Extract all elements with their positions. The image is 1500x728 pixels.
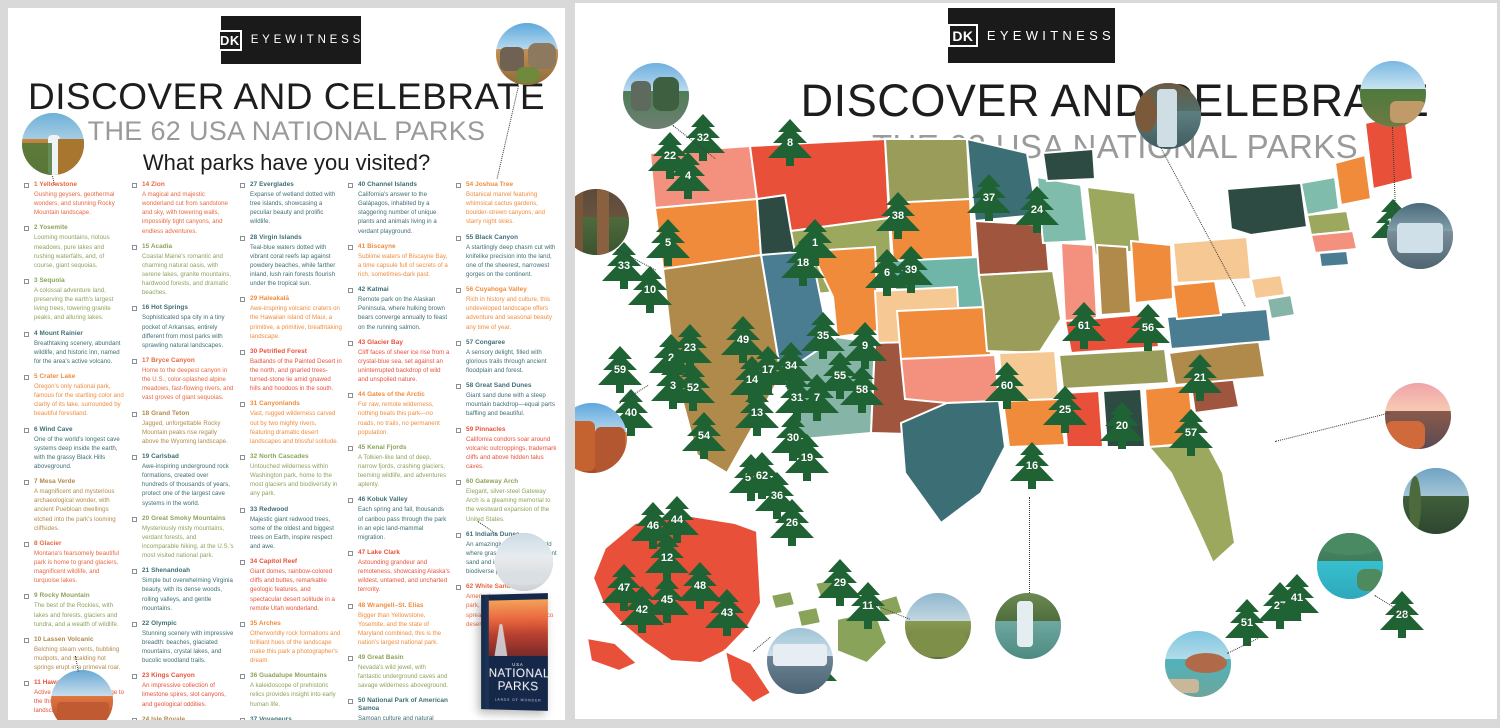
park-name: 45 Kenai Fjords (358, 444, 450, 452)
park-name: 43 Glacier Bay (358, 339, 450, 347)
park-description: Each spring and fall, thousands of carib… (358, 505, 450, 542)
park-name: 30 Petrified Forest (250, 348, 342, 356)
park-marker-tree-52[interactable]: 52 (671, 363, 715, 411)
park-description: Badlands of the Painted Desert in the no… (250, 357, 342, 394)
tree-icon (628, 265, 672, 313)
park-marker-tree-21[interactable]: 21 (1178, 353, 1222, 401)
park-checkbox[interactable] (240, 674, 245, 679)
park-name: 8 Glacier (34, 540, 126, 548)
park-list-item[interactable]: 32 North CascadesUntouched wilderness wi… (240, 453, 342, 499)
left-poster-title: DISCOVER AND CELEBRATE (8, 76, 565, 118)
park-name: 48 Wrangell–St. Elias (358, 602, 450, 610)
park-list-column-1: 1 YellowstoneGushing geysers, geothermal… (24, 181, 132, 711)
park-list-item[interactable]: 8 GlacierMontana's fearsomely beautiful … (24, 540, 126, 586)
acadia-photo (1360, 61, 1426, 127)
park-checkbox[interactable] (24, 375, 29, 380)
tree-icon (646, 218, 690, 266)
tree-icon (770, 498, 814, 546)
park-name: 31 Canyonlands (250, 400, 342, 408)
zion-photo (575, 403, 627, 473)
left-poster-subtitle: THE 62 USA NATIONAL PARKS (8, 116, 565, 147)
park-name: 57 Congaree (466, 339, 558, 347)
park-description: California condors soar around volcanic … (466, 435, 558, 472)
park-checkbox[interactable] (348, 393, 353, 398)
park-description: Sophisticated spa city in a tiny pocket … (142, 313, 234, 350)
park-checkbox[interactable] (456, 384, 461, 389)
park-marker-tree-11[interactable]: 11 (846, 581, 890, 629)
park-name: 10 Lassen Volcanic (34, 636, 126, 644)
park-list-item[interactable]: 40 Channel IslandsCalifornia's answer to… (348, 181, 450, 236)
park-name: 42 Katmai (358, 286, 450, 294)
book-cover-photo (489, 599, 548, 656)
park-checkbox[interactable] (24, 480, 29, 485)
tree-icon (1062, 301, 1106, 349)
tree-icon (876, 191, 920, 239)
park-name: 59 Pinnacles (466, 426, 558, 434)
park-name: 29 Haleakalā (250, 295, 342, 303)
park-list-item[interactable]: 50 National Park of American SamoaSamoan… (348, 697, 450, 720)
park-description: Belching steam vents, bubbling mudpots, … (34, 645, 126, 672)
park-marker-tree-26[interactable]: 26 (770, 498, 814, 546)
park-marker-tree-16[interactable]: 16 (1010, 441, 1054, 489)
park-description: Giant domes, rainbow-colored cliffs and … (250, 567, 342, 613)
park-marker-tree-18[interactable]: 18 (781, 238, 825, 286)
park-list-item[interactable]: 47 Lake ClarkAstounding grandeur and rem… (348, 549, 450, 595)
park-name: 56 Cuyahoga Valley (466, 286, 558, 294)
park-name: 28 Virgin Islands (250, 234, 342, 242)
left-poster-panel: DK EYEWITNESS DISCOVER AND CELEBRATE THE… (8, 8, 565, 720)
park-checkbox[interactable] (132, 183, 137, 188)
park-marker-tree-24[interactable]: 24 (1015, 185, 1059, 233)
park-list-item[interactable]: 46 Kobuk ValleyEach spring and fall, tho… (348, 496, 450, 542)
park-description: Expanse of wetland dotted with tree isla… (250, 190, 342, 227)
park-checkbox[interactable] (456, 428, 461, 433)
park-checkbox[interactable] (348, 604, 353, 609)
park-name: 36 Guadalupe Mountains (250, 672, 342, 680)
park-checkbox[interactable] (456, 480, 461, 485)
tree-icon (846, 581, 890, 629)
left-poster-question: What parks have you visited? (8, 150, 565, 176)
park-list-item[interactable]: 10 Lassen VolcanicBelching steam vents, … (24, 636, 126, 672)
park-list-item[interactable]: 27 EvergladesExpanse of wetland dotted w… (240, 181, 342, 227)
dk-eyewitness-logo-left: DK EYEWITNESS (221, 16, 361, 64)
park-list-column-2: 14 ZionA magical and majestic wonderland… (132, 181, 240, 711)
park-list-item[interactable]: 45 Kenai FjordsA Tolkien-like land of de… (348, 444, 450, 490)
park-description: A Tolkien-like land of deep, narrow fjor… (358, 453, 450, 490)
park-description: Gushing geysers, geothermal wonders, and… (34, 190, 126, 217)
park-description: Bigger than Yellowstone, Yosemite, and t… (358, 611, 450, 648)
park-list-column-3: 27 EvergladesExpanse of wetland dotted w… (240, 181, 348, 711)
park-list-item[interactable]: 16 Hot SpringsSophisticated spa city in … (132, 304, 234, 350)
park-checkbox[interactable] (348, 551, 353, 556)
park-list-item[interactable]: 31 CanyonlandsVast, rugged wilderness ca… (240, 400, 342, 446)
park-checkbox[interactable] (24, 279, 29, 284)
tree-icon (1100, 401, 1144, 449)
park-marker-tree-61[interactable]: 61 (1062, 301, 1106, 349)
park-name: 9 Rocky Mountain (34, 592, 126, 600)
park-list-item[interactable]: 6 Wind CaveOne of the world's longest ca… (24, 426, 126, 472)
park-description: Coastal Maine's romantic and charming na… (142, 252, 234, 298)
park-checkbox[interactable] (456, 341, 461, 346)
park-checkbox[interactable] (240, 297, 245, 302)
park-name: 50 National Park of American Samoa (358, 697, 450, 713)
park-description: Home to the deepest canyon in the U.S., … (142, 366, 234, 403)
park-name: 46 Kobuk Valley (358, 496, 450, 504)
tree-icon (967, 173, 1011, 221)
park-name: 47 Lake Clark (358, 549, 450, 557)
park-name: 23 Kings Canyon (142, 672, 234, 680)
park-checkbox[interactable] (348, 498, 353, 503)
park-checkbox[interactable] (132, 245, 137, 250)
park-checkbox[interactable] (348, 245, 353, 250)
park-name: 6 Wind Cave (34, 426, 126, 434)
park-checkbox[interactable] (132, 718, 137, 720)
park-description: Sublime waters of Biscayne Bay, a time c… (358, 252, 450, 279)
tree-icon (1126, 303, 1170, 351)
park-description: Elegant, silver-steel Gateway Arch is a … (466, 487, 558, 524)
park-marker-tree-28[interactable]: 28 (1380, 590, 1424, 638)
hot-springs-photo (995, 593, 1061, 659)
dry-tortugas-photo (1165, 631, 1231, 697)
park-description: Giant sand dune with a steep mountain ba… (466, 391, 558, 418)
park-description: For raw, remote wilderness, nothing beat… (358, 400, 450, 437)
tree-icon (985, 361, 1029, 409)
park-description: A kaleidoscope of prehistoric relics pro… (250, 681, 342, 708)
park-list-item[interactable]: 42 KatmaiRemote park on the Alaskan Peni… (348, 286, 450, 332)
park-name: 22 Olympic (142, 620, 234, 628)
park-list-item[interactable]: 19 CarlsbadAwe-inspiring underground roc… (132, 453, 234, 508)
book-tagline: LANDS OF WONDER (489, 698, 548, 703)
park-name: 49 Great Basin (358, 654, 450, 662)
park-marker-tree-4[interactable]: 4 (666, 151, 710, 199)
park-list-item[interactable]: 22 OlympicStunning scenery with impressi… (132, 620, 234, 666)
park-name: 60 Gateway Arch (466, 478, 558, 486)
park-list-item[interactable]: 17 Bryce CanyonHome to the deepest canyo… (132, 357, 234, 403)
park-name: 17 Bryce Canyon (142, 357, 234, 365)
park-name: 1 Yellowstone (34, 181, 126, 189)
park-marker-tree-41[interactable]: 41 (1275, 573, 1319, 621)
park-description: Samoan culture and natural treasures con… (358, 714, 450, 720)
park-checkbox[interactable] (24, 183, 29, 188)
park-checkbox[interactable] (132, 569, 137, 574)
tree-icon (598, 345, 642, 393)
park-checkbox[interactable] (24, 428, 29, 433)
usa-national-parks-book-cover: DK EYEWITNESS USA NATIONAL PARKS LANDS O… (481, 593, 548, 711)
park-description: Looming mountains, riotous meadows, pure… (34, 233, 126, 270)
park-name: 55 Black Canyon (466, 234, 558, 242)
park-list-item[interactable]: 44 Gates of the ArcticFor raw, remote wi… (348, 391, 450, 437)
park-checkbox[interactable] (24, 542, 29, 547)
park-list-column-4: 40 Channel IslandsCalifornia's answer to… (348, 181, 456, 711)
park-list-item[interactable]: 56 Cuyahoga ValleyRich in history and cu… (456, 286, 558, 332)
usa-map: 2232485331038118639372422349359593521734… (575, 3, 1497, 719)
park-description: Teal-blue waters dotted with vibrant cor… (250, 243, 342, 289)
poster-screenshot: DK EYEWITNESS DISCOVER AND CELEBRATE THE… (0, 0, 1500, 728)
park-list-item[interactable]: 36 Guadalupe MountainsA kaleidoscope of … (240, 672, 342, 708)
park-list-item[interactable]: 43 Glacier BayCliff faces of sheer ice r… (348, 339, 450, 385)
park-checkbox[interactable] (240, 455, 245, 460)
book-title-line2: PARKS (489, 679, 548, 693)
eyewitness-wordmark: EYEWITNESS (251, 34, 364, 46)
park-name: 15 Acadia (142, 243, 234, 251)
park-checkbox[interactable] (348, 341, 353, 346)
tree-icon (889, 245, 933, 293)
park-checkbox[interactable] (24, 226, 29, 231)
tree-icon (1043, 385, 1087, 433)
glacier-bay-photo (767, 628, 833, 694)
park-marker-tree-20[interactable]: 20 (1100, 401, 1144, 449)
park-description: A startlingly deep chasm cut with knifel… (466, 243, 558, 280)
tree-icon (1380, 590, 1424, 638)
park-name: 40 Channel Islands (358, 181, 450, 189)
park-checkbox[interactable] (240, 402, 245, 407)
park-name: 27 Everglades (250, 181, 342, 189)
park-description: A sensory delight, filled with glorious … (466, 348, 558, 375)
tree-icon (840, 365, 884, 413)
park-description: Majestic giant redwood trees, some of th… (250, 515, 342, 552)
park-checkbox[interactable] (348, 656, 353, 661)
park-list-item[interactable]: 37 VoyageursHidden pockets of wilderness… (240, 716, 342, 720)
park-checkbox[interactable] (456, 183, 461, 188)
park-description: Astounding grandeur and remoteness, show… (358, 558, 450, 595)
park-marker-tree-39[interactable]: 39 (889, 245, 933, 293)
park-marker-tree-10[interactable]: 10 (628, 265, 672, 313)
park-checkbox[interactable] (24, 332, 29, 337)
park-list-item[interactable]: 33 RedwoodMajestic giant redwood trees, … (240, 506, 342, 552)
park-name: 37 Voyageurs (250, 716, 342, 720)
park-description: The best of the Rockies, with lakes and … (34, 601, 126, 628)
book-spine (481, 595, 489, 710)
badlands-photo (1387, 203, 1453, 269)
park-description: Oregon's only national park, famous for … (34, 382, 126, 419)
park-checkbox[interactable] (240, 718, 245, 720)
park-marker-tree-25[interactable]: 25 (1043, 385, 1087, 433)
congaree-photo (1403, 468, 1469, 534)
tree-icon (1169, 408, 1213, 456)
tree-icon (666, 151, 710, 199)
tree-icon (682, 411, 726, 459)
dk-book-icon: DK (218, 30, 242, 51)
park-name: 32 North Cascades (250, 453, 342, 461)
park-list-item[interactable]: 1 YellowstoneGushing geysers, geothermal… (24, 181, 126, 217)
park-name: 18 Grand Teton (142, 410, 234, 418)
park-checkbox[interactable] (240, 350, 245, 355)
park-description: Vast, rugged wilderness carved out by tw… (250, 409, 342, 446)
virgin-islands-photo (1317, 533, 1383, 599)
tree-icon (1178, 353, 1222, 401)
park-checkbox[interactable] (132, 517, 137, 522)
park-marker-tree-54[interactable]: 54 (682, 411, 726, 459)
park-checkbox[interactable] (132, 412, 137, 417)
park-marker-tree-8[interactable]: 8 (768, 118, 812, 166)
park-description: One of the world's longest cave systems … (34, 435, 126, 472)
tree-icon (1275, 573, 1319, 621)
park-description: Stunning scenery with impressive breadth… (142, 629, 234, 666)
park-name: 19 Carlsbad (142, 453, 234, 461)
park-checkbox[interactable] (348, 699, 353, 704)
haleakala-photo (905, 593, 971, 659)
park-name: 33 Redwood (250, 506, 342, 514)
park-checkbox[interactable] (240, 508, 245, 513)
park-marker-tree-56[interactable]: 56 (1126, 303, 1170, 351)
park-checkbox[interactable] (132, 359, 137, 364)
park-list-item[interactable]: 14 ZionA magical and majestic wonderland… (132, 181, 234, 236)
park-checkbox[interactable] (456, 288, 461, 293)
park-checkbox[interactable] (24, 638, 29, 643)
park-list-item[interactable]: 60 Gateway ArchElegant, silver-steel Gat… (456, 478, 558, 524)
park-list-item[interactable]: 34 Capitol ReefGiant domes, rainbow-colo… (240, 558, 342, 613)
park-list-item[interactable]: 55 Black CanyonA startlingly deep chasm … (456, 234, 558, 280)
park-name: 35 Arches (250, 620, 342, 628)
right-map-panel: DK EYEWITNESS DISCOVER AND CELEBRATE THE… (575, 3, 1497, 719)
park-marker-tree-38[interactable]: 38 (876, 191, 920, 239)
park-checkbox[interactable] (24, 594, 29, 599)
park-description: Botanical marvel featuring whimsical cac… (466, 190, 558, 227)
tree-icon (768, 118, 812, 166)
book-front-face: DK EYEWITNESS USA NATIONAL PARKS LANDS O… (489, 593, 548, 711)
park-name: 41 Biscayne (358, 243, 450, 251)
park-list-item[interactable]: 35 ArchesOtherworldly rock formations an… (240, 620, 342, 666)
yellowstone-photo (22, 113, 84, 175)
park-name: 34 Capitol Reef (250, 558, 342, 566)
park-name: 44 Gates of the Arctic (358, 391, 450, 399)
tree-icon (705, 588, 749, 636)
park-marker-tree-59[interactable]: 59 (598, 345, 642, 393)
park-description: California's answer to the Galápagos, in… (358, 190, 450, 236)
park-list-item[interactable]: 4 Mount RainierBreathtaking scenery, abu… (24, 330, 126, 366)
park-checkbox[interactable] (240, 236, 245, 241)
park-list-item[interactable]: 54 Joshua TreeBotanical marvel featuring… (456, 181, 558, 227)
park-checkbox[interactable] (240, 183, 245, 188)
park-description: Awe-inspiring underground rock formation… (142, 462, 234, 508)
grand-canyon-photo (51, 670, 113, 720)
park-name: 14 Zion (142, 181, 234, 189)
park-marker-tree-37[interactable]: 37 (967, 173, 1011, 221)
park-marker-tree-43[interactable]: 43 (705, 588, 749, 636)
park-marker-tree-5[interactable]: 5 (646, 218, 690, 266)
park-list-item[interactable]: 2 YosemiteLooming mountains, riotous mea… (24, 224, 126, 270)
park-checkbox[interactable] (348, 446, 353, 451)
park-description: Remote park on the Alaskan Peninsula, wh… (358, 295, 450, 332)
park-description: Awe-inspiring volcanic craters on the Ha… (250, 304, 342, 341)
tree-icon (1015, 185, 1059, 233)
park-name: 7 Mesa Verde (34, 478, 126, 486)
park-checkbox[interactable] (132, 455, 137, 460)
tree-icon (671, 363, 715, 411)
park-description: Otherworldly rock formations and brillia… (250, 629, 342, 666)
tree-icon (781, 238, 825, 286)
park-checkbox[interactable] (132, 306, 137, 311)
redwood-photo (575, 189, 629, 255)
park-name: 21 Shenandoah (142, 567, 234, 575)
park-description: Cliff faces of sheer ice rise from a cry… (358, 348, 450, 385)
park-list-item[interactable]: 3 SequoiaA colossal adventure land, pres… (24, 277, 126, 323)
park-name: 3 Sequoia (34, 277, 126, 285)
park-checkbox[interactable] (456, 236, 461, 241)
park-list-item[interactable]: 21 ShenandoahSimple but overwhelming Vir… (132, 567, 234, 613)
park-checkbox[interactable] (132, 674, 137, 679)
joshua-tree-photo (496, 23, 558, 85)
park-marker-tree-57[interactable]: 57 (1169, 408, 1213, 456)
park-list-item[interactable]: 30 Petrified ForestBadlands of the Paint… (240, 348, 342, 394)
olympic-photo (623, 63, 689, 129)
tree-icon (1010, 441, 1054, 489)
park-description: An impressive collection of limestone sp… (142, 681, 234, 708)
park-checkbox[interactable] (132, 622, 137, 627)
park-marker-tree-60[interactable]: 60 (985, 361, 1029, 409)
park-list-item[interactable]: 7 Mesa VerdeA magnificent and mysterious… (24, 478, 126, 533)
park-list-item[interactable]: 41 BiscayneSublime waters of Biscayne Ba… (348, 243, 450, 279)
book-title-block: USA NATIONAL PARKS LANDS OF WONDER (489, 662, 548, 703)
park-description: Nevada's wild jewel, with fantastic unde… (358, 663, 450, 690)
park-name: 54 Joshua Tree (466, 181, 558, 189)
park-name: 20 Great Smoky Mountains (142, 515, 234, 523)
park-list-item[interactable]: 28 Virgin IslandsTeal-blue waters dotted… (240, 234, 342, 289)
park-list-item[interactable]: 57 CongareeA sensory delight, filled wit… (456, 339, 558, 375)
park-list-item[interactable]: 18 Grand TetonJagged, unforgettable Rock… (132, 410, 234, 446)
park-checkbox[interactable] (456, 533, 461, 538)
park-checkbox[interactable] (240, 560, 245, 565)
park-list-item[interactable]: 15 AcadiaCoastal Maine's romantic and ch… (132, 243, 234, 298)
park-list-item[interactable]: 5 Crater LakeOregon's only national park… (24, 373, 126, 419)
park-description: Untouched wilderness within Washington p… (250, 462, 342, 499)
hot-springs-leader-line (1029, 497, 1030, 593)
park-description: Jagged, unforgettable Rocky Mountain pea… (142, 419, 234, 446)
park-name: 16 Hot Springs (142, 304, 234, 312)
park-list-item[interactable]: 23 Kings CanyonAn impressive collection … (132, 672, 234, 708)
park-checkbox[interactable] (240, 622, 245, 627)
park-checkbox[interactable] (456, 585, 461, 590)
park-description: A magical and majestic wonderland cut fr… (142, 190, 234, 236)
park-list-item[interactable]: 9 Rocky MountainThe best of the Rockies,… (24, 592, 126, 628)
park-name: 4 Mount Rainier (34, 330, 126, 338)
park-list-item[interactable]: 48 Wrangell–St. EliasBigger than Yellows… (348, 602, 450, 648)
park-checkbox[interactable] (348, 183, 353, 188)
park-marker-tree-58[interactable]: 58 (840, 365, 884, 413)
park-name: 58 Great Sand Dunes (466, 382, 558, 390)
park-list-item[interactable]: 29 HaleakalāAwe-inspiring volcanic crate… (240, 295, 342, 341)
park-description: Simple but overwhelming Virginia beauty,… (142, 576, 234, 613)
park-name: 5 Crater Lake (34, 373, 126, 381)
park-description: Breathtaking scenery, abundant wildlife,… (34, 339, 126, 366)
park-description: Rich in history and culture, this undeve… (466, 295, 558, 332)
park-checkbox[interactable] (24, 681, 29, 686)
park-description: Mysteriously misty mountains, verdant fo… (142, 524, 234, 561)
park-name: 24 Isle Royale (142, 716, 234, 720)
park-list-item[interactable]: 59 PinnaclesCalifornia condors soar arou… (456, 426, 558, 472)
park-description: A colossal adventure land, preserving th… (34, 286, 126, 323)
park-list-item[interactable]: 20 Great Smoky MountainsMysteriously mis… (132, 515, 234, 561)
park-list-item[interactable]: 24 Isle RoyaleLake Superior's pristine i… (132, 716, 234, 720)
park-list-item[interactable]: 58 Great Sand DunesGiant sand dune with … (456, 382, 558, 418)
park-description: A magnificent and mysterious archaeologi… (34, 487, 126, 533)
park-name: 2 Yosemite (34, 224, 126, 232)
park-list-item[interactable]: 49 Great BasinNevada's wild jewel, with … (348, 654, 450, 690)
park-checkbox[interactable] (348, 288, 353, 293)
shenandoah-photo (1385, 383, 1451, 449)
white-sands-photo (495, 533, 553, 591)
park-description: Montana's fearsomely beautiful park is h… (34, 549, 126, 586)
cuyahoga-photo (1135, 83, 1201, 149)
